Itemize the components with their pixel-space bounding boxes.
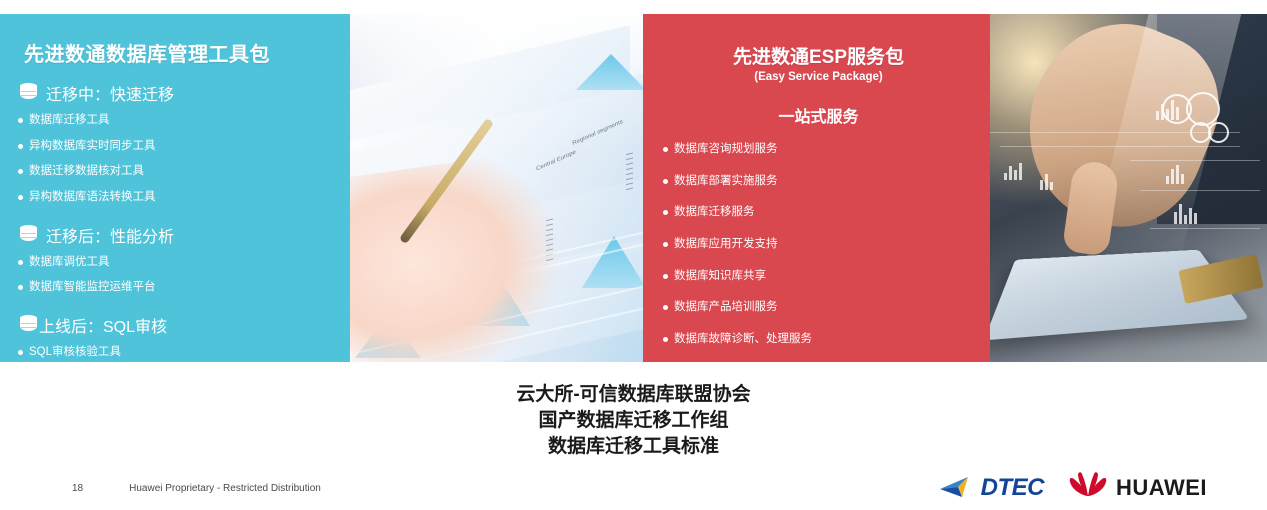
dtec-wordmark: DTEC [981, 474, 1044, 502]
list-item: 数据库调优工具 [18, 256, 178, 269]
list-item: 数据库应用开发支持 [663, 238, 823, 251]
bullet-grid-services: 数据库咨询规划服务 数据库部署实施服务 数据库迁移服务 数据库应用开发支持 数据… [657, 143, 980, 362]
bullet-dot [18, 169, 23, 174]
left-toolkit-panel: 先进数通数据库管理工具包 迁移中：快速迁移 数据库迁移工具 异构数据库实时同步工… [0, 14, 350, 362]
list-item: 异构数据库实时同步工具 [18, 140, 188, 153]
bullet-dot [18, 260, 23, 265]
section-heading-migration: 迁移中：快速迁移 [20, 81, 338, 105]
database-icon [20, 315, 37, 335]
list-item: 数据库故障诊断、处理服务 [663, 333, 980, 346]
list-item: 数据库迁移服务 [663, 206, 831, 219]
dtec-arrow-icon [938, 475, 980, 501]
bullet-dot [663, 305, 668, 310]
dtec-logo: DTEC [938, 474, 1044, 502]
slide: Regional segments Central Europe West Eu… [0, 0, 1267, 510]
bullet-dot [663, 210, 668, 215]
right-esp-panel: 先进数通ESP服务包 (Easy Service Package) 一站式服务 … [643, 14, 990, 362]
list-item: 数据库知识库共享 [663, 270, 831, 283]
section-heading-performance: 迁移后：性能分析 [20, 223, 338, 247]
logo-group: DTEC HUAWEI [938, 472, 1207, 503]
huawei-logo: HUAWEI [1068, 472, 1207, 503]
analytics-chart-photo: Regional segments Central Europe West Eu… [350, 14, 643, 362]
bullet-dot [663, 147, 668, 152]
page-number: 18 [72, 483, 83, 494]
bullet-dot [663, 274, 668, 279]
right-panel-title: 先进数通ESP服务包 [657, 42, 980, 69]
list-item: 数据库产品培训服务 [663, 301, 823, 314]
bullet-dot [18, 285, 23, 290]
bullet-dot [18, 144, 23, 149]
footer-note: Huawei Proprietary - Restricted Distribu… [129, 483, 321, 494]
bullet-dot [18, 118, 23, 123]
right-panel-section-heading: 一站式服务 [657, 103, 980, 127]
caption-block: 云大所-可信数据库联盟协会 国产数据库迁移工作组 数据库迁移工具标准 [0, 382, 1267, 461]
list-item: 异构数据库语法转换工具 [18, 191, 188, 204]
bullet-dot [663, 337, 668, 342]
huawei-flower-icon [1068, 472, 1108, 503]
caption-line-3: 数据库迁移工具标准 [0, 434, 1267, 460]
list-item: 数据库部署实施服务 [663, 175, 823, 188]
list-item: 数据库迁移工具 [18, 114, 178, 127]
tablet-touch-photo [990, 14, 1267, 362]
caption-line-2: 国产数据库迁移工作组 [0, 408, 1267, 434]
list-item: 数据库智能监控运维平台 [18, 281, 188, 294]
footer: 18 Huawei Proprietary - Restricted Distr… [72, 483, 321, 494]
list-item: 数据库咨询规划服务 [663, 143, 831, 156]
left-panel-title: 先进数通数据库管理工具包 [24, 38, 338, 67]
bullet-grid-migration: 数据库迁移工具 异构数据库实时同步工具 数据迁移数据核对工具 异构数据库语法转换… [18, 114, 338, 217]
huawei-wordmark: HUAWEI [1116, 475, 1207, 501]
section-heading-sql-audit: 上线后：SQL审核 [20, 313, 338, 337]
database-icon [20, 225, 37, 245]
caption-line-1: 云大所-可信数据库联盟协会 [0, 382, 1267, 408]
database-icon [20, 83, 37, 103]
banner-strip: Regional segments Central Europe West Eu… [0, 14, 1267, 362]
bullet-dot [18, 350, 23, 355]
bullet-dot [18, 195, 23, 200]
bullet-dot [663, 242, 668, 247]
bullet-grid-performance: 数据库调优工具 数据库智能监控运维平台 [18, 256, 338, 307]
right-panel-subtitle: (Easy Service Package) [657, 71, 980, 83]
bullet-grid-sql-audit: SQL审核核验工具 [18, 346, 338, 362]
list-item: SQL审核核验工具 [18, 346, 178, 359]
list-item: 数据迁移数据核对工具 [18, 165, 178, 178]
bullet-dot [663, 179, 668, 184]
